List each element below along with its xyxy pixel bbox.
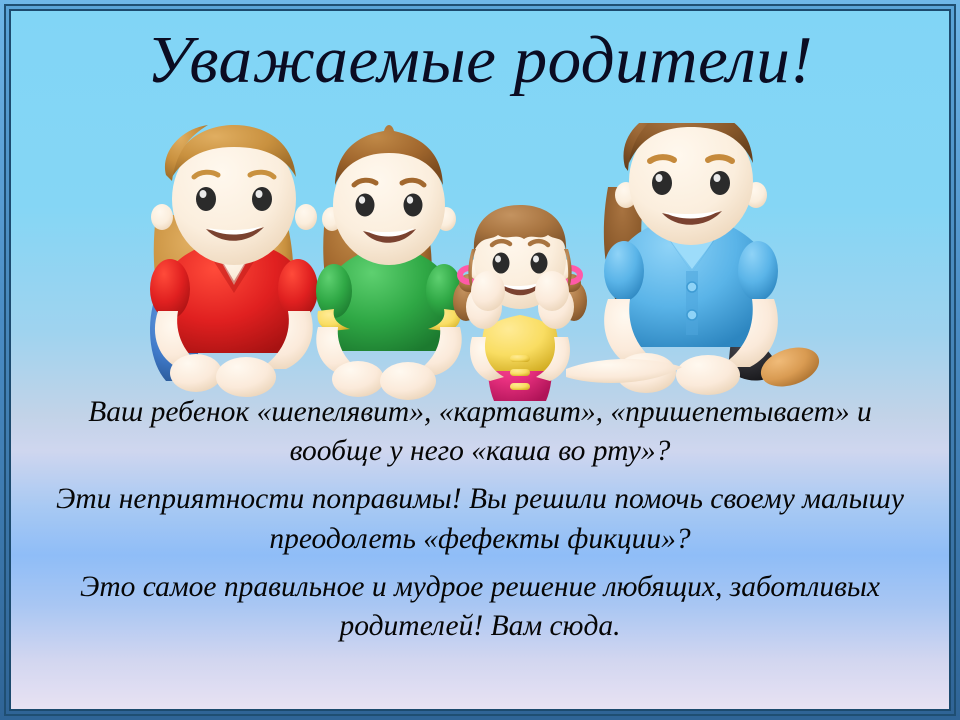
page-title: Уважаемые родители! [11,25,949,95]
figure-mother [150,125,318,397]
paragraph-1: Ваш ребенок «шепелявит», «картавит», «пр… [43,393,917,471]
family-illustration [136,123,836,413]
slide-canvas: Уважаемые родители! [11,11,949,709]
figure-boy [316,125,462,400]
paragraph-2: Эти неприятности поправимы! Вы решили по… [43,480,917,558]
presentation-slide: Уважаемые родители! [0,0,960,720]
figure-father [566,123,824,395]
body-text: Ваш ребенок «шепелявит», «картавит», «пр… [43,393,917,646]
paragraph-3: Это самое правильное и мудрое решение лю… [43,568,917,646]
